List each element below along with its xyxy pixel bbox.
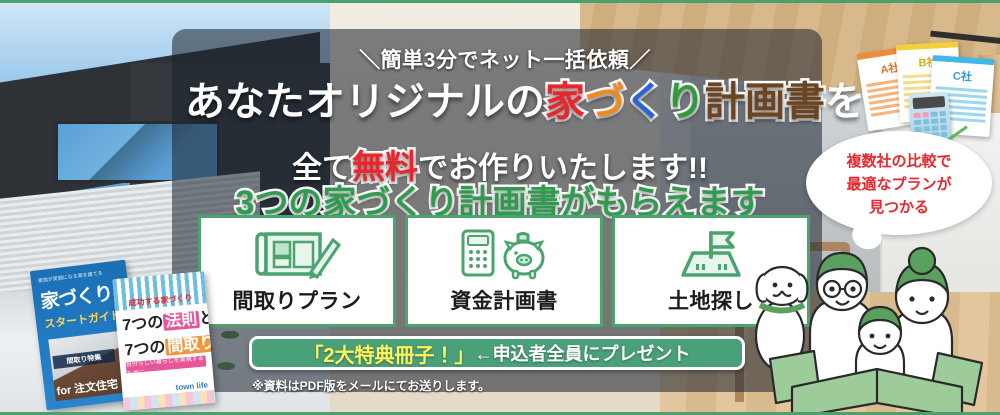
booklet-seven-rules: 成功する家づくり 7つの法則と 7つの間取り 自分らしい暮らしを実現するために …	[112, 271, 215, 411]
main-headline-line1: あなたオリジナルの家づくり計画書を	[185, 81, 815, 123]
speech-bubble: 複数社の比較で 最適なプランが 見つかる	[806, 131, 992, 235]
booklet-line1-a: 7つの	[122, 314, 164, 335]
bubble-line-1: 複数社の比較で	[846, 150, 951, 171]
headline-char-ie: 家	[545, 80, 585, 124]
disclaimer-text: ※資料はPDF版をメールにてお送りします。	[252, 377, 490, 394]
ribbon-main-text: 「2大特典冊子！」	[303, 339, 474, 368]
blueprint-pencil-icon	[253, 227, 341, 283]
headline-suffix: を	[825, 80, 865, 124]
feature-box-group: 間取りプラン	[198, 215, 810, 327]
catch-copy: ＼簡単3分でネット一括依頼／	[330, 44, 680, 74]
bubble-line-2: 最適なプランが	[846, 173, 951, 194]
flag-plot-icon	[671, 227, 751, 283]
feature-box-floorplan[interactable]: 間取りプラン	[198, 215, 396, 327]
ribbon-sub-text: ←申込者全員にプレゼント	[475, 340, 691, 366]
feature-box-fundingplan[interactable]: 資金計画書	[405, 215, 603, 327]
booklet-ribbon: 自分らしい暮らしを実現するために	[126, 355, 207, 373]
feature-label: 間取りプラン	[233, 285, 362, 315]
headline-prefix: あなたオリジナルの	[185, 80, 545, 124]
headline-word-keikakusho: 計画書	[705, 80, 825, 124]
calculator-screen	[913, 96, 946, 109]
bubble-line-3: 見つかる	[869, 196, 929, 217]
calculator-piggybank-icon	[458, 227, 550, 283]
feature-label: 土地探し	[668, 285, 754, 315]
bonus-ribbon[interactable]: 「2大特典冊子！」←申込者全員にプレゼント	[249, 336, 745, 370]
booklet-house-pattern	[123, 390, 216, 411]
feature-label: 資金計画書	[450, 285, 558, 315]
promo-banner: ＼簡単3分でネット一括依頼／ あなたオリジナルの家づくり計画書を 全て無料でお作…	[0, 0, 1000, 415]
sheet-label: C社	[931, 66, 994, 86]
headline-char-ri: り	[665, 80, 705, 124]
booklet-line1-b: 法則	[163, 311, 200, 331]
headline-char-ku: く	[625, 80, 665, 124]
family-illustration	[752, 241, 1000, 415]
headline-char-zu: づ	[585, 80, 625, 124]
